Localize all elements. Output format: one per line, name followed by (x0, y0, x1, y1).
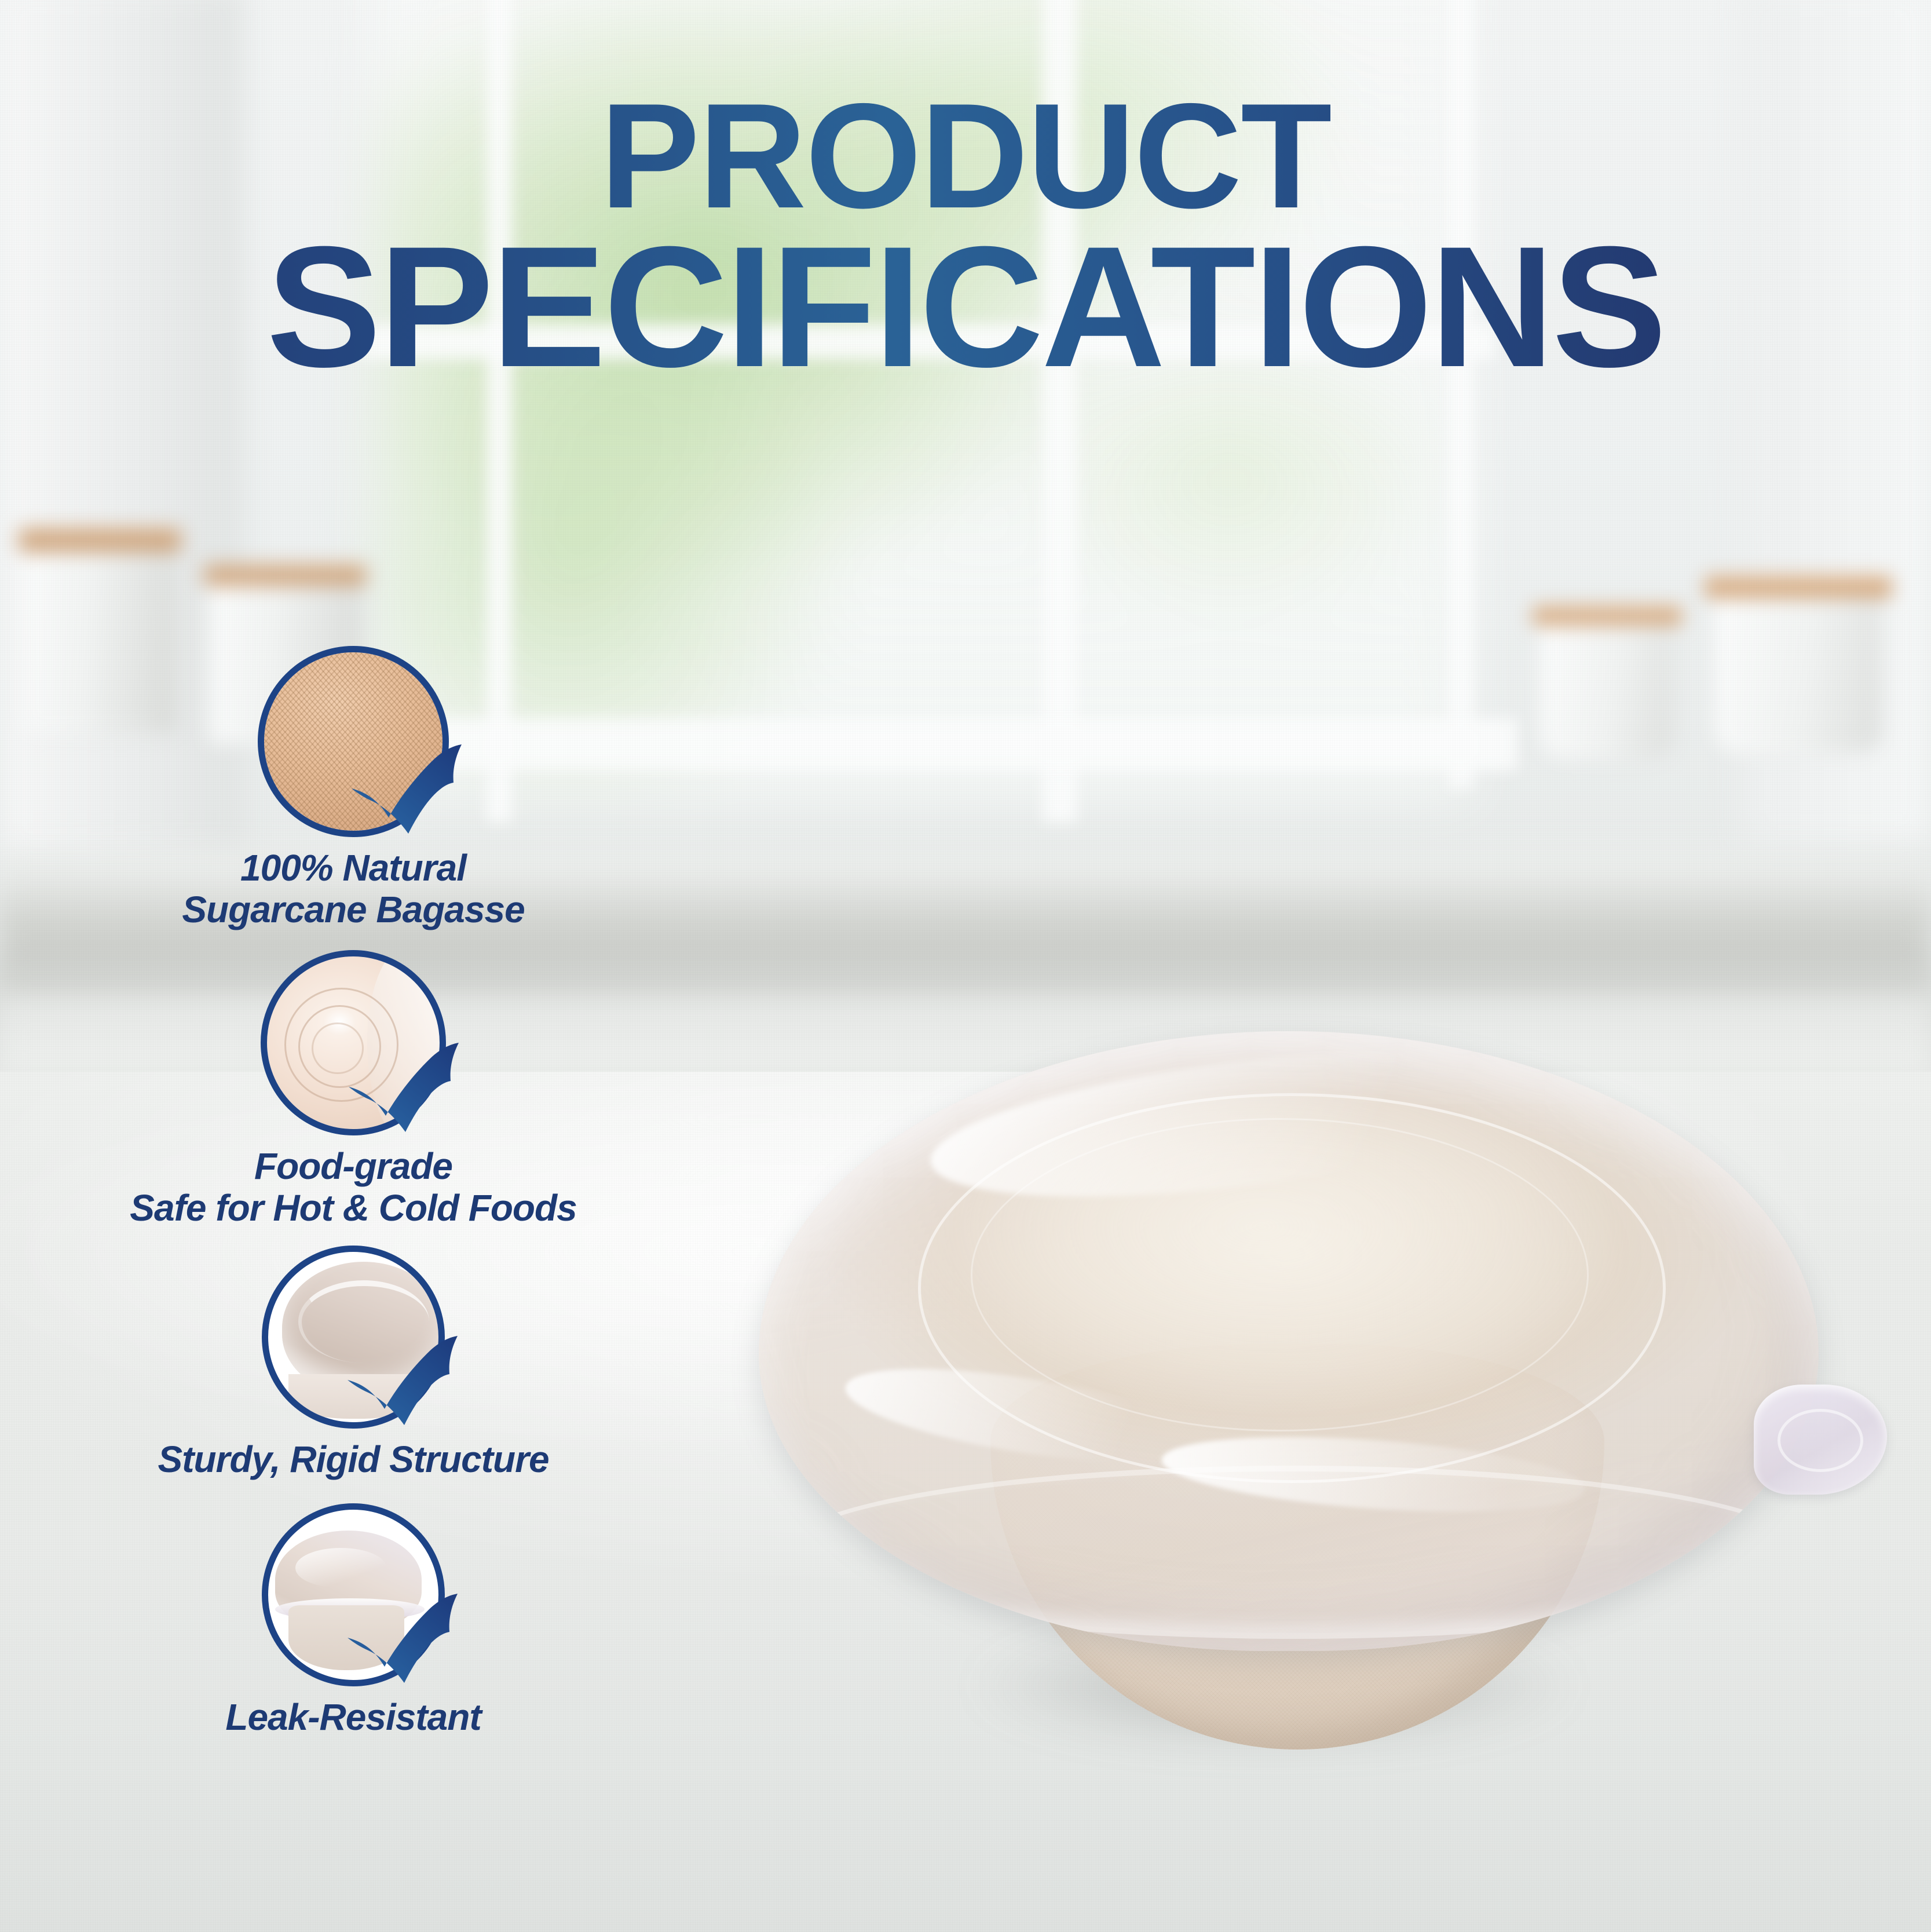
bagasse-texture-icon (258, 646, 449, 837)
feature-label-line1: Food-grade (87, 1146, 620, 1188)
check-swoosh-icon (343, 1593, 465, 1697)
title-line-product: PRODUCT (0, 87, 1931, 224)
page-title: PRODUCT SPECIFICATIONS (0, 87, 1931, 386)
feature-label-line1: 100% Natural (87, 848, 620, 889)
feature-label-line1: Leak-Resistant (87, 1697, 620, 1739)
product-specifications-graphic: PRODUCT SPECIFICATIONS 100% Na (0, 0, 1931, 1932)
feature-label: 100% Natural Sugarcane Bagasse (87, 848, 620, 930)
bowl-rim-icon (262, 1246, 445, 1429)
feature-artwork (87, 1246, 620, 1429)
feature-artwork (87, 950, 620, 1135)
feature-artwork (87, 646, 620, 837)
feature-label-line2: Safe for Hot & Cold Foods (87, 1188, 620, 1229)
feature-artwork (87, 1503, 620, 1686)
lid-pull-tab (1754, 1385, 1887, 1495)
feature-item-sturdy-rigid: Sturdy, Rigid Structure (87, 1246, 620, 1481)
feature-label: Food-grade Safe for Hot & Cold Foods (87, 1146, 620, 1229)
domed-lid-icon (262, 1503, 445, 1686)
feature-item-food-grade: Food-grade Safe for Hot & Cold Foods (87, 950, 620, 1229)
check-swoosh-icon (343, 1335, 465, 1439)
feature-label: Sturdy, Rigid Structure (87, 1439, 620, 1481)
feature-item-natural-bagasse: 100% Natural Sugarcane Bagasse (87, 646, 620, 930)
feature-label-line1: Sturdy, Rigid Structure (87, 1439, 620, 1481)
check-swoosh-icon (344, 1042, 466, 1146)
feature-label: Leak-Resistant (87, 1697, 620, 1739)
feature-item-leak-resistant: Leak-Resistant (87, 1503, 620, 1739)
feature-list: 100% Natural Sugarcane Bagasse (87, 646, 620, 1739)
clear-dome-lid (759, 1031, 1819, 1651)
feature-label-line2: Sugarcane Bagasse (87, 889, 620, 931)
bagasse-lid-icon (261, 950, 446, 1135)
check-swoosh-icon (347, 743, 469, 848)
product-photo (747, 1020, 1882, 1755)
title-line-specifications: SPECIFICATIONS (0, 228, 1931, 386)
